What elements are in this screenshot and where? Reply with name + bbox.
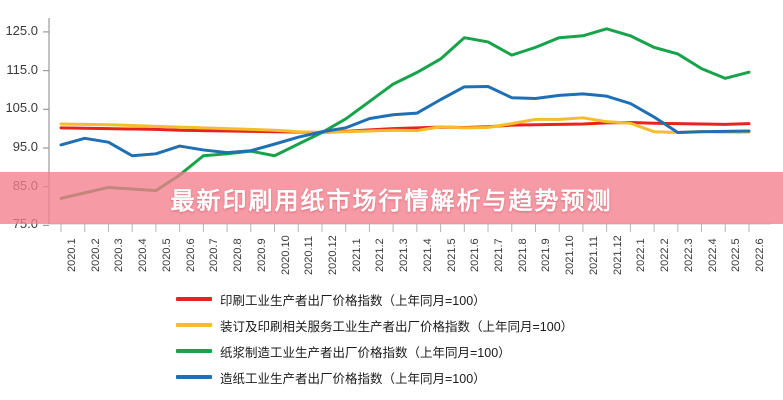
y-axis-label: 95.0 bbox=[0, 139, 38, 154]
x-axis-label: 2021.3 bbox=[398, 238, 410, 272]
legend-item-2[interactable]: 纸浆制造工业生产者出厂价格指数（上年同月=100） bbox=[0, 338, 783, 364]
x-axis-label: 2022.1 bbox=[635, 238, 647, 272]
series-line-3 bbox=[61, 86, 749, 155]
x-axis-label: 2020.9 bbox=[256, 238, 268, 272]
x-axis-label: 2020.1 bbox=[66, 238, 78, 272]
x-axis-label: 2021.12 bbox=[612, 235, 624, 275]
y-axis-label: 115.0 bbox=[0, 62, 38, 77]
x-axis-label: 2021.5 bbox=[446, 238, 458, 272]
x-axis-label: 2021.10 bbox=[564, 235, 576, 275]
x-axis-label: 2021.2 bbox=[374, 238, 386, 272]
y-axis-label: 125.0 bbox=[0, 23, 38, 38]
x-axis-label: 2022.6 bbox=[754, 238, 766, 272]
x-axis-label: 2022.3 bbox=[683, 238, 695, 272]
x-axis-label: 2021.8 bbox=[517, 238, 529, 272]
x-axis-label: 2020.10 bbox=[280, 235, 292, 275]
x-axis-label: 2020.8 bbox=[232, 238, 244, 272]
legend-item-0[interactable]: 印刷工业生产者出厂价格指数（上年同月=100） bbox=[0, 286, 783, 312]
chart-container: 75.085.095.0105.0115.0125.0 2020.12020.2… bbox=[0, 0, 783, 400]
x-axis-label: 2020.7 bbox=[208, 238, 220, 272]
x-axis-label: 2021.7 bbox=[493, 238, 505, 272]
legend-swatch-icon bbox=[176, 323, 212, 327]
promo-banner-overlay: 最新印刷用纸市场行情解析与趋势预测 bbox=[0, 172, 783, 224]
legend-label: 装订及印刷相关服务工业生产者出厂价格指数（上年同月=100） bbox=[220, 316, 573, 335]
x-axis-label: 2020.4 bbox=[137, 238, 149, 272]
x-axis-label: 2020.5 bbox=[161, 238, 173, 272]
x-axis-label: 2020.11 bbox=[303, 236, 315, 275]
legend-swatch-icon bbox=[176, 297, 212, 301]
x-axis-label: 2022.2 bbox=[659, 238, 671, 272]
x-axis-label: 2022.4 bbox=[707, 238, 719, 272]
x-axis-label: 2020.12 bbox=[327, 235, 339, 275]
x-axis-label: 2020.3 bbox=[113, 238, 125, 272]
legend-swatch-icon bbox=[176, 375, 212, 379]
legend-item-1[interactable]: 装订及印刷相关服务工业生产者出厂价格指数（上年同月=100） bbox=[0, 312, 783, 338]
x-axis-label: 2021.1 bbox=[351, 238, 363, 272]
promo-banner-title: 最新印刷用纸市场行情解析与趋势预测 bbox=[171, 181, 613, 216]
chart-legend: 印刷工业生产者出厂价格指数（上年同月=100）装订及印刷相关服务工业生产者出厂价… bbox=[0, 286, 783, 390]
x-axis-label: 2022.5 bbox=[730, 238, 742, 272]
x-axis-label: 2021.11 bbox=[588, 236, 600, 275]
legend-label: 纸浆制造工业生产者出厂价格指数（上年同月=100） bbox=[220, 342, 511, 361]
legend-label: 印刷工业生产者出厂价格指数（上年同月=100） bbox=[220, 290, 486, 309]
x-axis-label: 2021.6 bbox=[469, 238, 481, 272]
x-axis-label: 2021.4 bbox=[422, 238, 434, 272]
legend-swatch-icon bbox=[176, 349, 212, 353]
legend-label: 造纸工业生产者出厂价格指数（上年同月=100） bbox=[220, 368, 486, 387]
x-axis-label: 2020.6 bbox=[185, 238, 197, 272]
y-axis-label: 105.0 bbox=[0, 100, 38, 115]
x-axis-label: 2021.9 bbox=[540, 238, 552, 272]
x-axis-label: 2020.2 bbox=[90, 238, 102, 272]
legend-item-3[interactable]: 造纸工业生产者出厂价格指数（上年同月=100） bbox=[0, 364, 783, 390]
